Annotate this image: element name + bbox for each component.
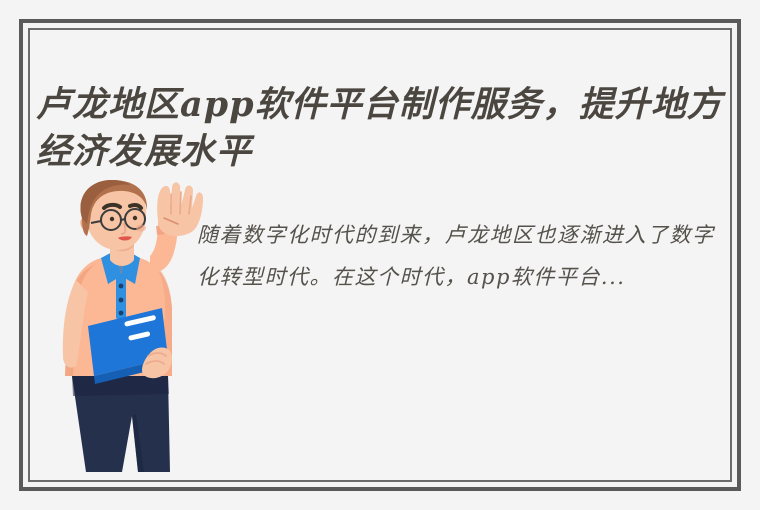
page-title: 卢龙地区app软件平台制作服务，提升地方经济发展水平	[36, 81, 736, 175]
poster-canvas: 卢龙地区app软件平台制作服务，提升地方经济发展水平 随着数字化时代的到来，卢龙…	[0, 0, 760, 510]
illustration-waving-hand	[157, 182, 203, 236]
illustration-head	[80, 180, 147, 250]
illustration-man-waving	[46, 180, 212, 480]
illustration-pants	[72, 376, 170, 472]
article-excerpt: 随着数字化时代的到来，卢龙地区也逐渐进入了数字化转型时代。在这个时代，app软件…	[197, 214, 735, 298]
